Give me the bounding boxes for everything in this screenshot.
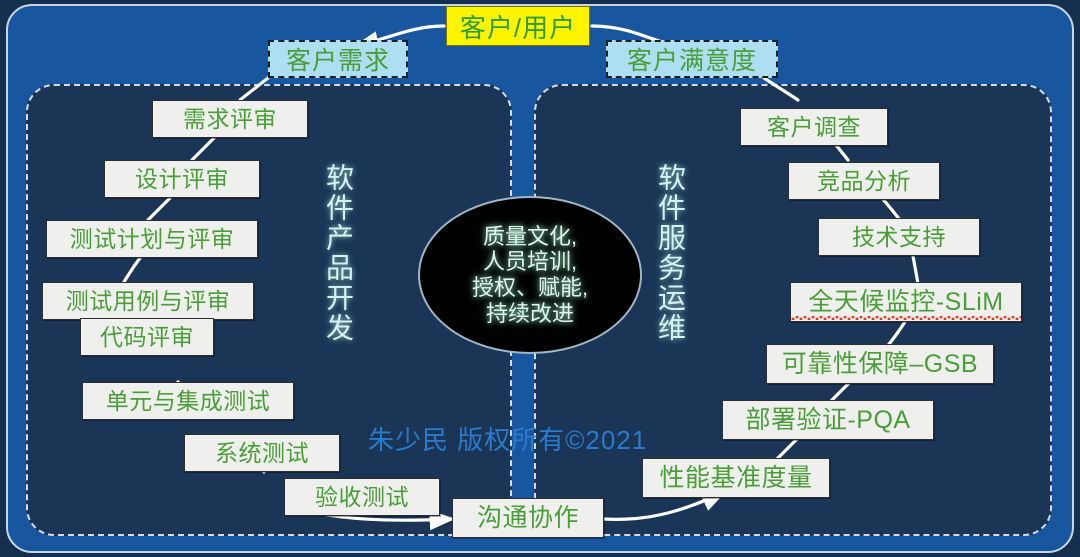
node-requirements-review[interactable]: 需求评审 xyxy=(152,100,308,138)
node-technical-support[interactable]: 技术支持 xyxy=(818,218,980,256)
core-line-1: 质量文化, xyxy=(483,224,577,250)
tab-customer-satisfaction[interactable]: 客户满意度 xyxy=(606,40,778,78)
diagram-canvas: 客户/用户 客户需求 客户满意度 质量文化, 人员培训, 授权、赋能, 持续改进… xyxy=(0,0,1080,557)
node-unit-integration-test[interactable]: 单元与集成测试 xyxy=(82,382,294,420)
box-customer-user[interactable]: 客户/用户 xyxy=(446,6,590,46)
node-performance-benchmark[interactable]: 性能基准度量 xyxy=(642,458,830,498)
node-competitive-analysis[interactable]: 竞品分析 xyxy=(788,162,940,200)
node-communication-collaboration[interactable]: 沟通协作 xyxy=(452,498,604,538)
vertical-label-service-operations: 软件服务运维 xyxy=(656,163,684,343)
node-test-plan-review[interactable]: 测试计划与评审 xyxy=(46,220,258,258)
core-quality-culture: 质量文化, 人员培训, 授权、赋能, 持续改进 xyxy=(418,196,642,354)
node-acceptance-test[interactable]: 验收测试 xyxy=(284,478,440,516)
node-reliability-assurance-gsb[interactable]: 可靠性保障–GSB xyxy=(766,344,994,384)
node-system-test[interactable]: 系统测试 xyxy=(184,434,340,472)
core-line-2: 人员培训, xyxy=(483,249,577,275)
node-deployment-verification-pqa[interactable]: 部署验证-PQA xyxy=(722,400,934,440)
node-design-review[interactable]: 设计评审 xyxy=(104,160,260,198)
tab-customer-requirements[interactable]: 客户需求 xyxy=(268,40,408,78)
node-customer-survey[interactable]: 客户调查 xyxy=(740,108,888,146)
copyright-watermark: 朱少民 版权所有©2021 xyxy=(368,420,647,457)
node-code-review[interactable]: 代码评审 xyxy=(80,318,214,356)
node-test-case-review[interactable]: 测试用例与评审 xyxy=(42,282,254,320)
core-line-4: 持续改进 xyxy=(486,301,574,327)
node-24x7-monitoring-slim[interactable]: 全天候监控-SLiM xyxy=(790,282,1022,322)
core-line-3: 授权、赋能, xyxy=(472,275,588,301)
vertical-label-product-development: 软件产品开发 xyxy=(324,163,352,343)
